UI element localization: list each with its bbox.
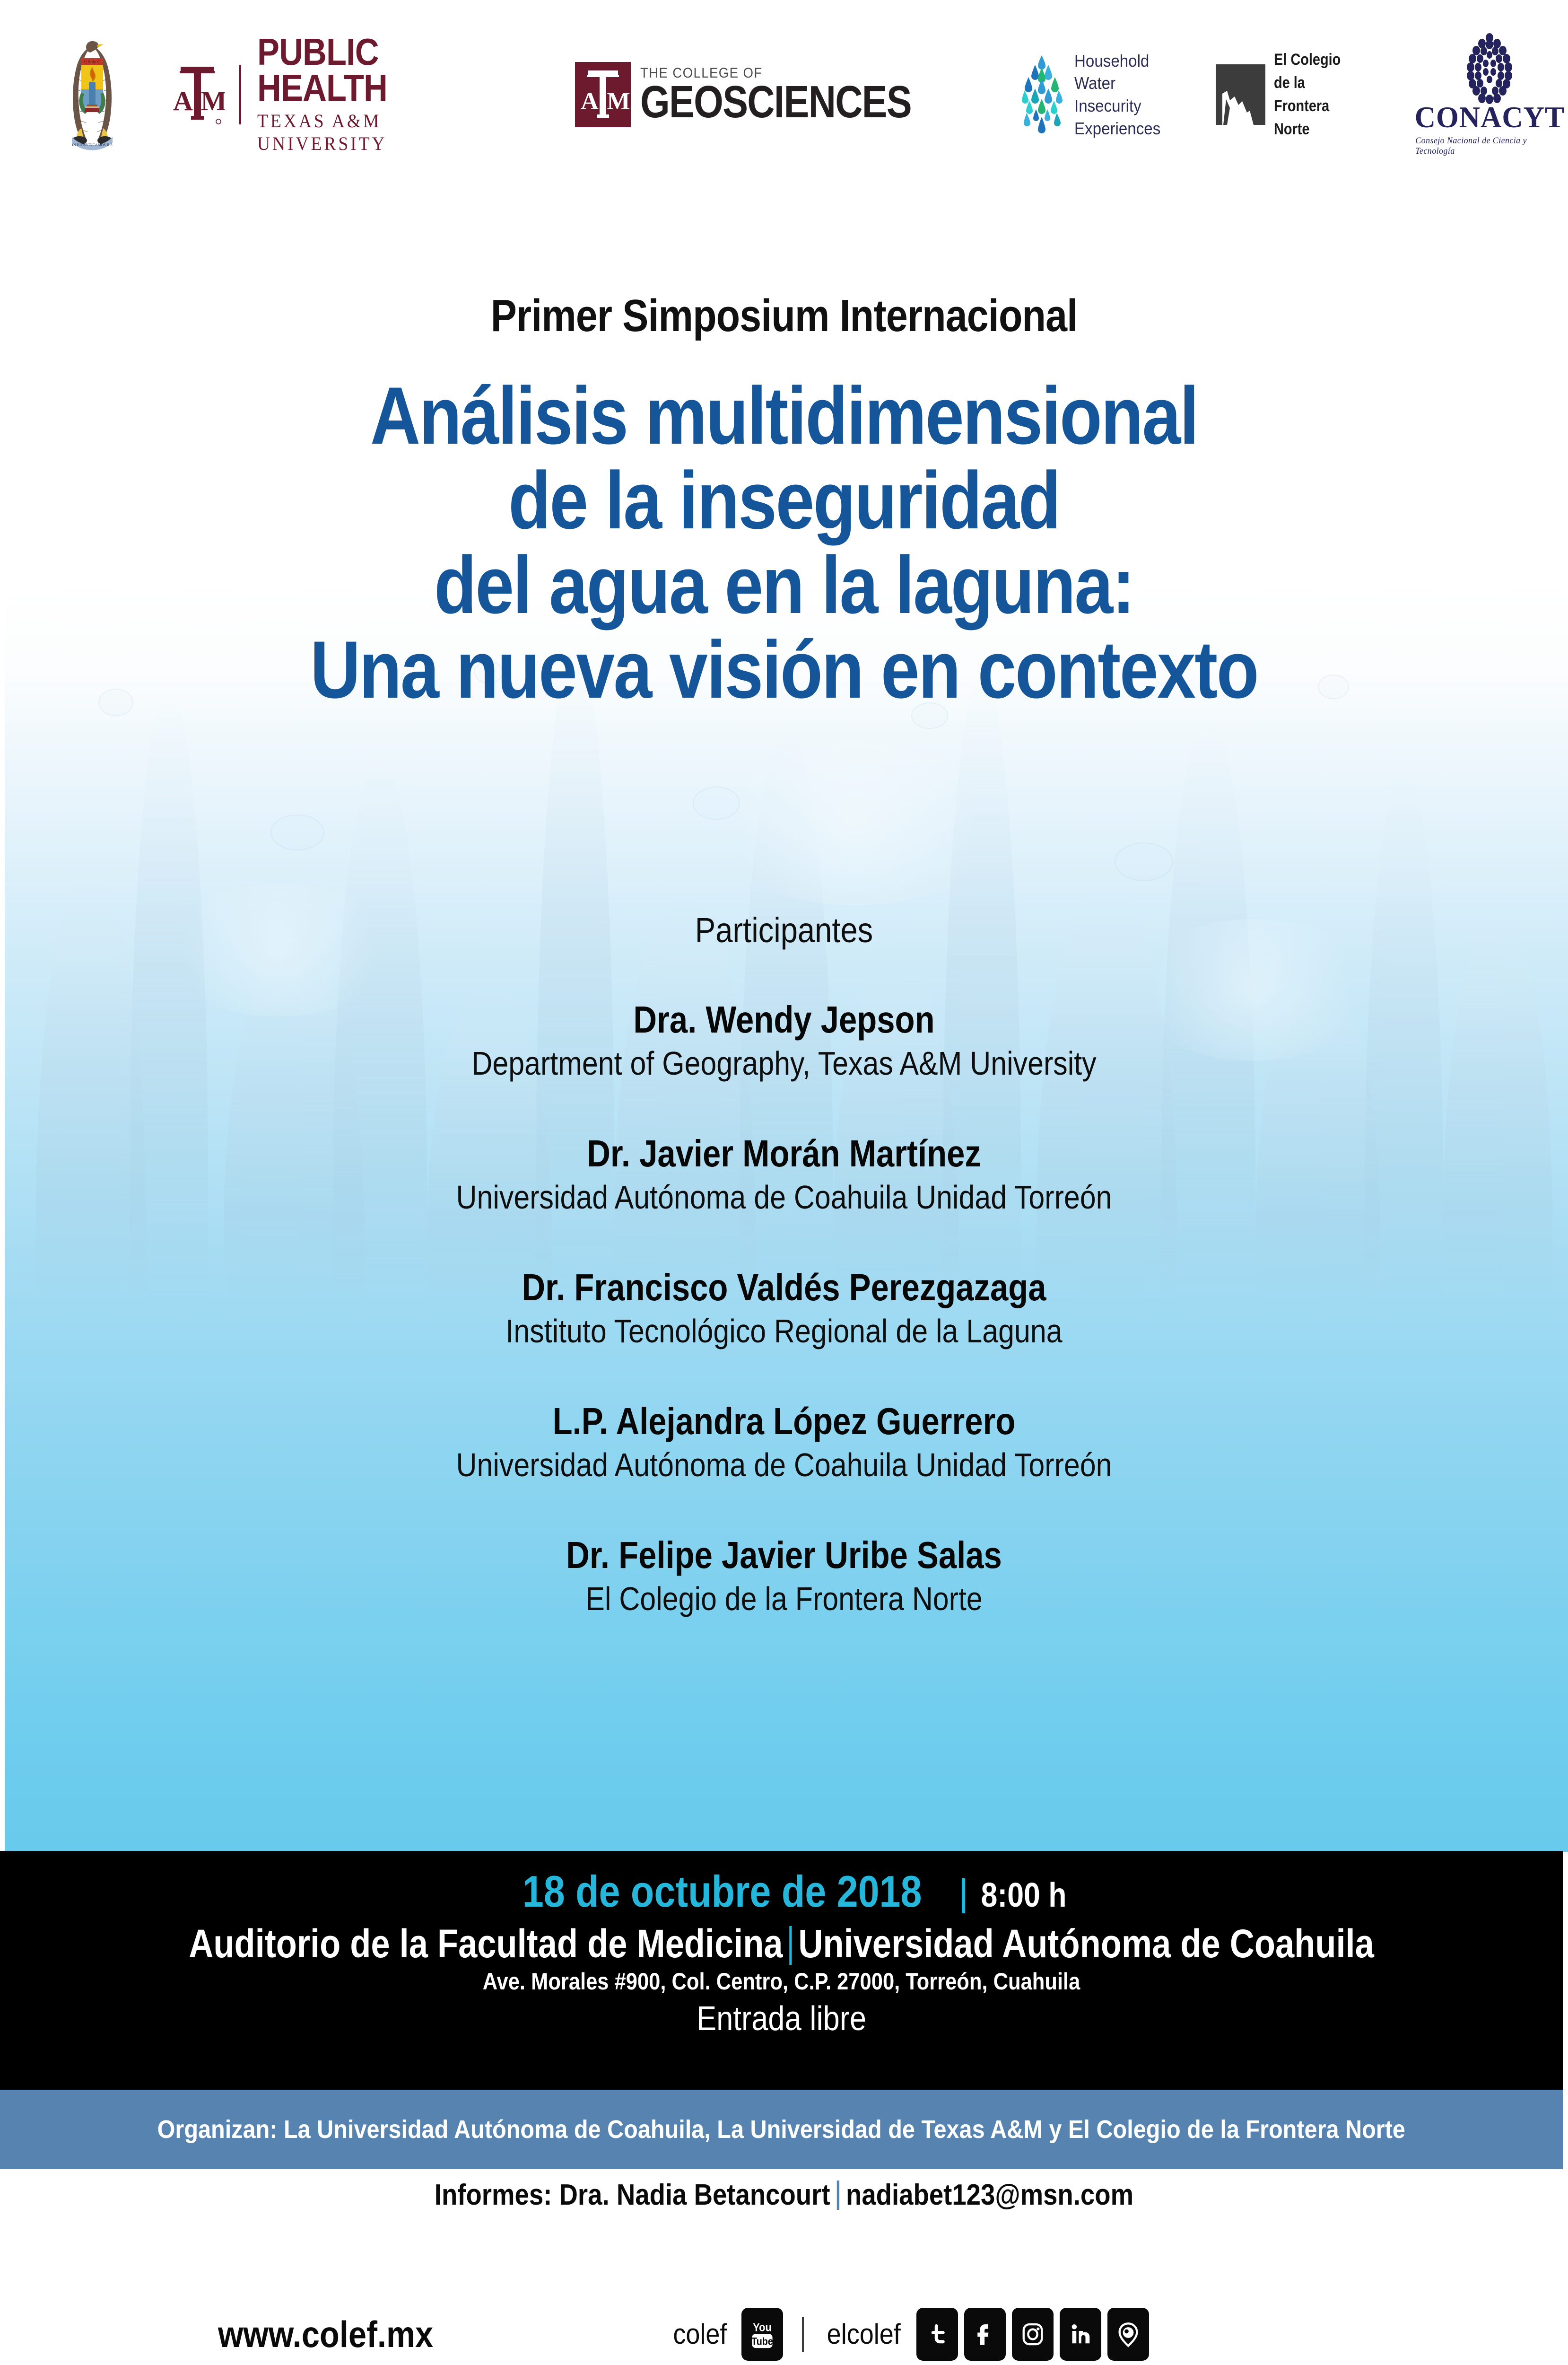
logo-divider bbox=[239, 65, 241, 124]
participant-affiliation: Universidad Autónoma de Coahuila Unidad … bbox=[102, 1447, 1466, 1482]
public-health-wordmark: PUBLIC HEALTH bbox=[257, 34, 494, 106]
participant-affiliation: Department of Geography, Texas A&M Unive… bbox=[102, 1046, 1466, 1081]
contact-divider bbox=[837, 2181, 839, 2210]
event-details-bar: 18 de octubre de 20188:00 h Auditorio de… bbox=[0, 1851, 1563, 2090]
sponsor-logo-bar: UA de C bbox=[0, 0, 1568, 189]
youtube-handle: colef bbox=[673, 2320, 727, 2348]
title-line-3: del agua en la laguna: bbox=[113, 543, 1454, 628]
social-links: colef You Tube elcolef bbox=[670, 2308, 1149, 2361]
venue-divider bbox=[789, 1926, 792, 1965]
water-droplets-icon bbox=[1017, 53, 1067, 136]
participants-heading: Participantes bbox=[94, 913, 1474, 948]
participant-affiliation: Universidad Autónoma de Coahuila Unidad … bbox=[102, 1180, 1466, 1215]
hwise-word-insecurity: Insecurity bbox=[1074, 95, 1160, 117]
event-address: Ave. Morales #900, Col. Centro, C.P. 270… bbox=[102, 1969, 1461, 1995]
organizers-text: Organizan: La Universidad Autónoma de Co… bbox=[157, 2117, 1405, 2142]
svg-text:UA de C: UA de C bbox=[84, 60, 101, 65]
event-date-line: 18 de octubre de 20188:00 h bbox=[0, 1868, 1563, 1915]
tamu-atm-mark-icon: A M bbox=[575, 62, 631, 127]
participant-affiliation: El Colegio de la Frontera Norte bbox=[102, 1581, 1466, 1616]
contact-label: Informes: Dra. Nadia Betancourt bbox=[435, 2179, 830, 2211]
participant-affiliation: Instituto Tecnológico Regional de la Lag… bbox=[102, 1314, 1466, 1349]
venue-secondary: Universidad Autónoma de Coahuila bbox=[798, 1921, 1374, 1966]
date-time-divider bbox=[962, 1878, 965, 1913]
conacyt-logo: CONACYT Consejo Nacional de Ciencia y Te… bbox=[1411, 33, 1568, 157]
conacyt-wordmark: CONACYT bbox=[1415, 102, 1565, 132]
participant-name: Dr. Felipe Javier Uribe Salas bbox=[110, 1535, 1458, 1576]
colef-mountain-icon bbox=[1216, 64, 1265, 125]
participant-name: Dra. Wendy Jepson bbox=[110, 1000, 1458, 1040]
colef-logo: El Colegio de la Frontera Norte bbox=[1216, 48, 1368, 141]
tamu-atm-mark-icon: A M bbox=[170, 63, 225, 127]
conacyt-dots-icon bbox=[1460, 33, 1519, 104]
event-venue-line: Auditorio de la Facultad de MedicinaUniv… bbox=[109, 1923, 1453, 1965]
participant-item: L.P. Alejandra López Guerrero Universida… bbox=[0, 1401, 1568, 1482]
footer-bar: www.colef.mx colef You Tube elcolef bbox=[0, 2289, 1568, 2365]
linkedin-icon[interactable] bbox=[1060, 2308, 1101, 2361]
svg-text:A: A bbox=[581, 88, 599, 115]
title-line-1: Análisis multidimensional bbox=[113, 374, 1454, 458]
footer-divider bbox=[802, 2317, 804, 2352]
colef-wordmark: El Colegio de la Frontera Norte bbox=[1274, 48, 1354, 141]
uadec-eagle-icon: UA de C bbox=[52, 35, 132, 154]
youtube-icon[interactable]: You Tube bbox=[741, 2308, 783, 2361]
poster-root: UA de C bbox=[0, 0, 1568, 2365]
participant-name: Dr. Francisco Valdés Perezgazaga bbox=[110, 1268, 1458, 1308]
venue-primary: Auditorio de la Facultad de Medicina bbox=[189, 1921, 783, 1966]
svg-text:M: M bbox=[607, 88, 630, 115]
contact-section: Informes: Dra. Nadia Betancourtnadiabet1… bbox=[0, 2181, 1568, 2210]
contact-email[interactable]: nadiabet123@msn.com bbox=[846, 2179, 1133, 2211]
colef-line-1: El Colegio bbox=[1274, 48, 1354, 71]
hwise-logo: Household Water Insecurity Experiences bbox=[1017, 50, 1168, 140]
page-title: Análisis multidimensional de la inseguri… bbox=[113, 374, 1454, 712]
participant-item: Dr. Francisco Valdés Perezgazaga Institu… bbox=[0, 1268, 1568, 1349]
event-kicker: Primer Simposium Internacional bbox=[110, 293, 1458, 339]
colef-line-3: Norte bbox=[1274, 118, 1354, 141]
event-date: 18 de octubre de 2018 bbox=[523, 1868, 922, 1915]
instagram-icon[interactable] bbox=[1012, 2308, 1054, 2361]
participant-name: Dr. Javier Morán Martínez bbox=[110, 1134, 1458, 1174]
participant-item: Dr. Felipe Javier Uribe Salas El Colegio… bbox=[0, 1535, 1568, 1616]
hwise-wordmark: Household Water Insecurity Experiences bbox=[1074, 50, 1160, 140]
participant-item: Dra. Wendy Jepson Department of Geograph… bbox=[0, 1000, 1568, 1081]
svg-text:IN BIENVINCAMOS II S: IN BIENVINCAMOS II S bbox=[72, 143, 113, 147]
contact-line: Informes: Dra. Nadia Betancourtnadiabet1… bbox=[435, 2181, 1133, 2210]
svg-text:Tube: Tube bbox=[751, 2336, 773, 2347]
hwise-word-experiences: Experiences bbox=[1074, 117, 1160, 140]
tamu-public-health-logo: A M PUBLIC HEALTH TEXAS A&M UNIVERSITY bbox=[170, 34, 525, 155]
title-line-2: de la inseguridad bbox=[113, 458, 1454, 543]
social-handle: elcolef bbox=[827, 2320, 901, 2348]
event-admission: Entrada libre bbox=[94, 2001, 1469, 2037]
twitter-icon[interactable] bbox=[916, 2308, 958, 2361]
uadec-crest-logo: UA de C bbox=[52, 35, 132, 154]
periscope-icon[interactable] bbox=[1107, 2308, 1149, 2361]
hwise-word-household: Household bbox=[1074, 50, 1160, 72]
participant-name: L.P. Alejandra López Guerrero bbox=[110, 1401, 1458, 1442]
event-time: 8:00 h bbox=[981, 1877, 1067, 1913]
organizers-band: Organizan: La Universidad Autónoma de Co… bbox=[0, 2090, 1563, 2169]
title-line-4: Una nueva visión en contexto bbox=[113, 628, 1454, 712]
svg-text:A: A bbox=[173, 86, 193, 116]
participant-item: Dr. Javier Morán Martínez Universidad Au… bbox=[0, 1134, 1568, 1215]
facebook-icon[interactable] bbox=[964, 2308, 1006, 2361]
public-health-subline: TEXAS A&M UNIVERSITY bbox=[257, 110, 510, 155]
geosciences-wordmark: GEOSCIENCES bbox=[640, 82, 911, 123]
svg-text:M: M bbox=[201, 86, 225, 116]
website-url[interactable]: www.colef.mx bbox=[218, 2316, 433, 2353]
participants-section: Participantes Dra. Wendy Jepson Departme… bbox=[0, 913, 1568, 1616]
tamu-geosciences-logo: A M THE COLLEGE OF GEOSCIENCES bbox=[575, 62, 963, 127]
title-block: Primer Simposium Internacional Análisis … bbox=[0, 293, 1568, 712]
conacyt-tagline: Consejo Nacional de Ciencia y Tecnología bbox=[1416, 136, 1564, 157]
hwise-word-water: Water bbox=[1074, 72, 1160, 95]
svg-text:You: You bbox=[753, 2321, 772, 2333]
colef-line-2: de la Frontera bbox=[1274, 71, 1354, 118]
